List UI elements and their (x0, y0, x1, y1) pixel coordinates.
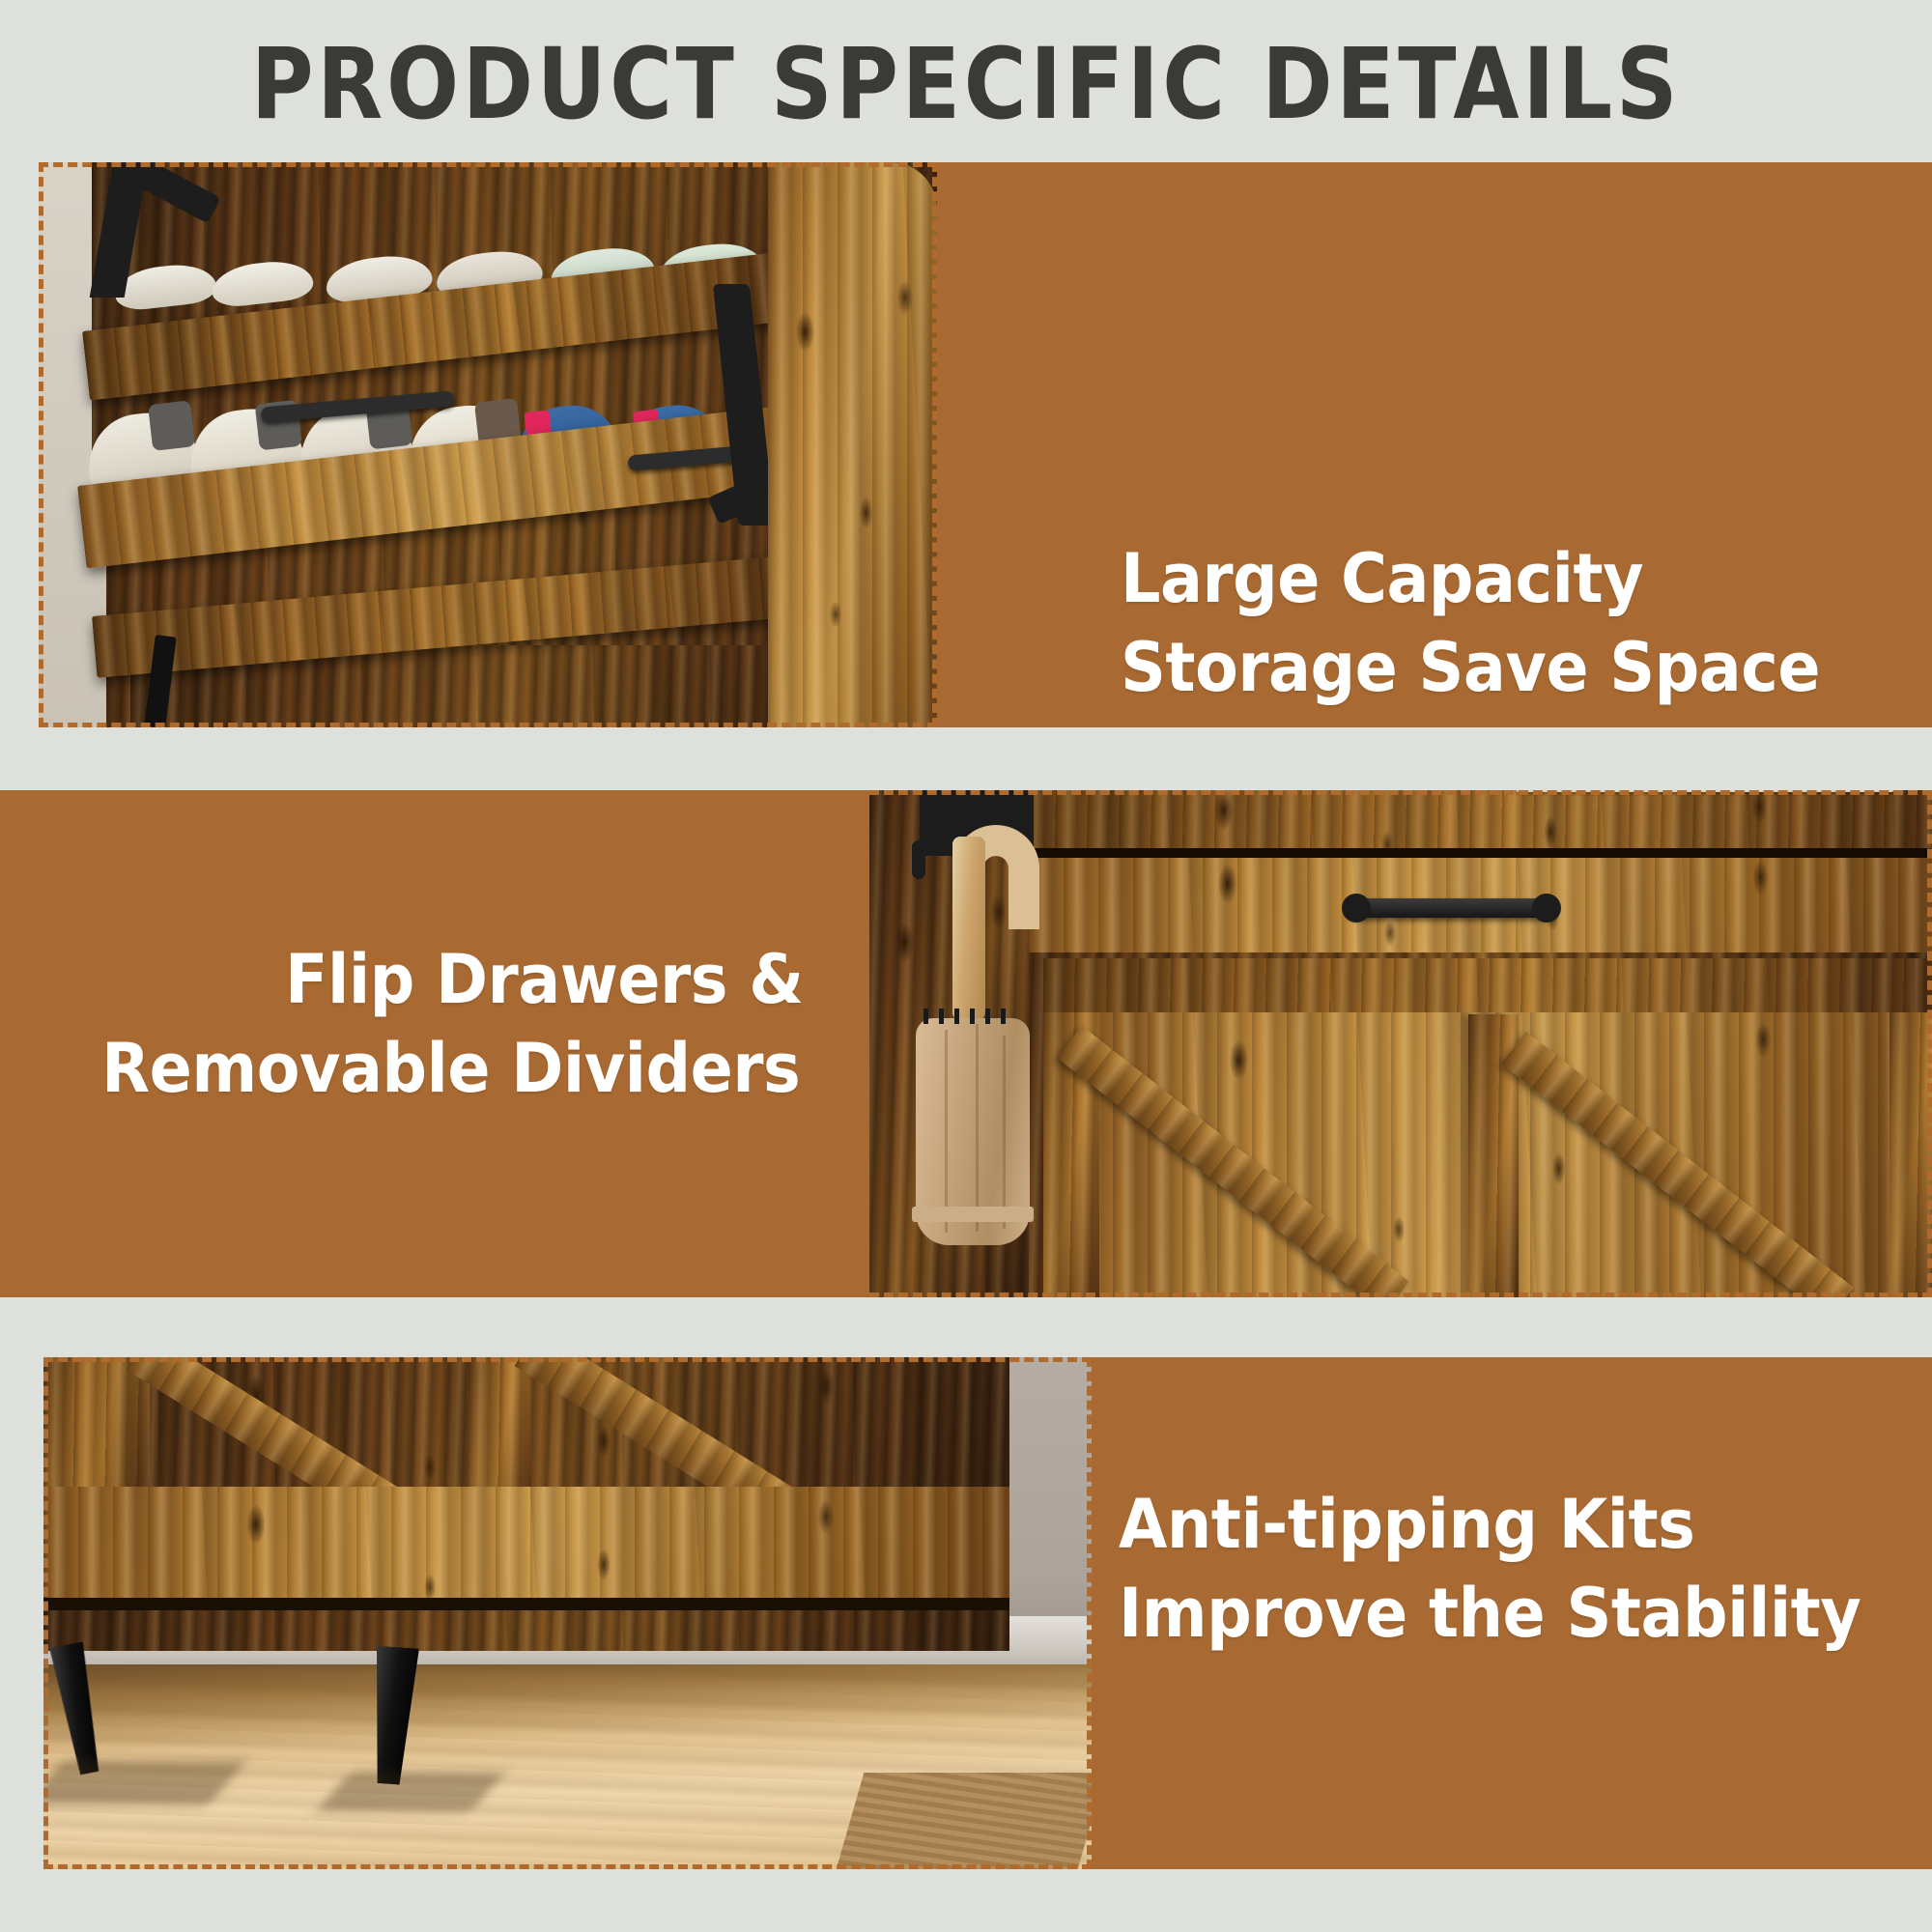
door-mat (837, 1773, 1092, 1869)
panel-3-caption-line-1: Anti-tipping Kits (1119, 1485, 1694, 1564)
panel-flip-drawers: БЛЕЙК СНАЙДЕР ВСЕ, ЧТО НУЖНО ЗНАТЬ О СЦЕ… (0, 790, 1932, 1297)
panel-2-photo: БЛЕЙК СНАЙДЕР ВСЕ, ЧТО НУЖНО ЗНАТЬ О СЦЕ… (869, 790, 1932, 1297)
shoe-cabinet (92, 162, 937, 727)
leg-shadow (317, 1773, 504, 1811)
umbrella-strap (912, 1207, 1034, 1222)
door-stile-middle (469, 1357, 530, 1496)
book-stack: БЛЕЙК СНАЙДЕР ВСЕ, ЧТО НУЖНО ЗНАТЬ О СЦЕ… (1517, 790, 1893, 792)
shoe-item (148, 400, 195, 451)
cabinet-base (43, 1357, 1009, 1641)
drawer-handle[interactable] (1348, 898, 1555, 918)
drawer-gap-shadow (1029, 848, 1932, 858)
door-diagonal-brace-left (1057, 1026, 1409, 1297)
wood-grain-knots (768, 162, 937, 727)
shoe-item (210, 257, 315, 309)
flip-drawer-front[interactable] (1029, 854, 1932, 952)
panel-1-caption-line-1: Large Capacity (1121, 539, 1643, 618)
panel-3-photo (43, 1357, 1092, 1869)
umbrella-shaft (952, 837, 985, 1020)
umbrella-tip-ribs (923, 1009, 1016, 1024)
cabinet-lower-door (43, 1357, 1009, 1496)
panel-large-capacity: Large Capacity Storage Save Space (0, 162, 1932, 727)
panel-anti-tipping: Anti-tipping Kits Improve the Stability (0, 1357, 1932, 1869)
book-item: МАРК ЛЕВИ СИЛЬНЕЕ СТРАХА (1517, 790, 1893, 792)
panel-3-caption-line-2: Improve the Stability (1119, 1574, 1861, 1653)
umbrella-fold (1003, 1036, 1006, 1229)
panel-2-caption-line-2: Removable Dividers (101, 1029, 800, 1108)
wood-grain-knots (43, 1487, 1009, 1612)
door-diagonal-brace-right (1501, 1032, 1854, 1297)
panel-1-caption-line-2: Storage Save Space (1121, 628, 1820, 707)
umbrella-canopy (916, 1018, 1030, 1245)
cabinet-bottom-rail (43, 1487, 1009, 1612)
cabinet-side-panel (768, 162, 937, 727)
umbrella-fold (976, 1024, 979, 1232)
coat-hook[interactable] (912, 840, 925, 879)
page-title: PRODUCT SPECIFIC DETAILS (77, 30, 1855, 138)
umbrella-fold (945, 1030, 948, 1233)
panel-2-caption-line-1: Flip Drawers & (285, 940, 804, 1019)
door-rail-top (1043, 958, 1932, 1012)
barn-door-panel[interactable] (1043, 958, 1932, 1297)
door-stile-left (43, 1357, 150, 1496)
cabinet-bottom-board (43, 1610, 1009, 1651)
book-spine-text: МАРК ЛЕВИ СИЛЬНЕЕ СТРАХА (1517, 790, 1893, 792)
panel-1-photo (39, 162, 937, 727)
